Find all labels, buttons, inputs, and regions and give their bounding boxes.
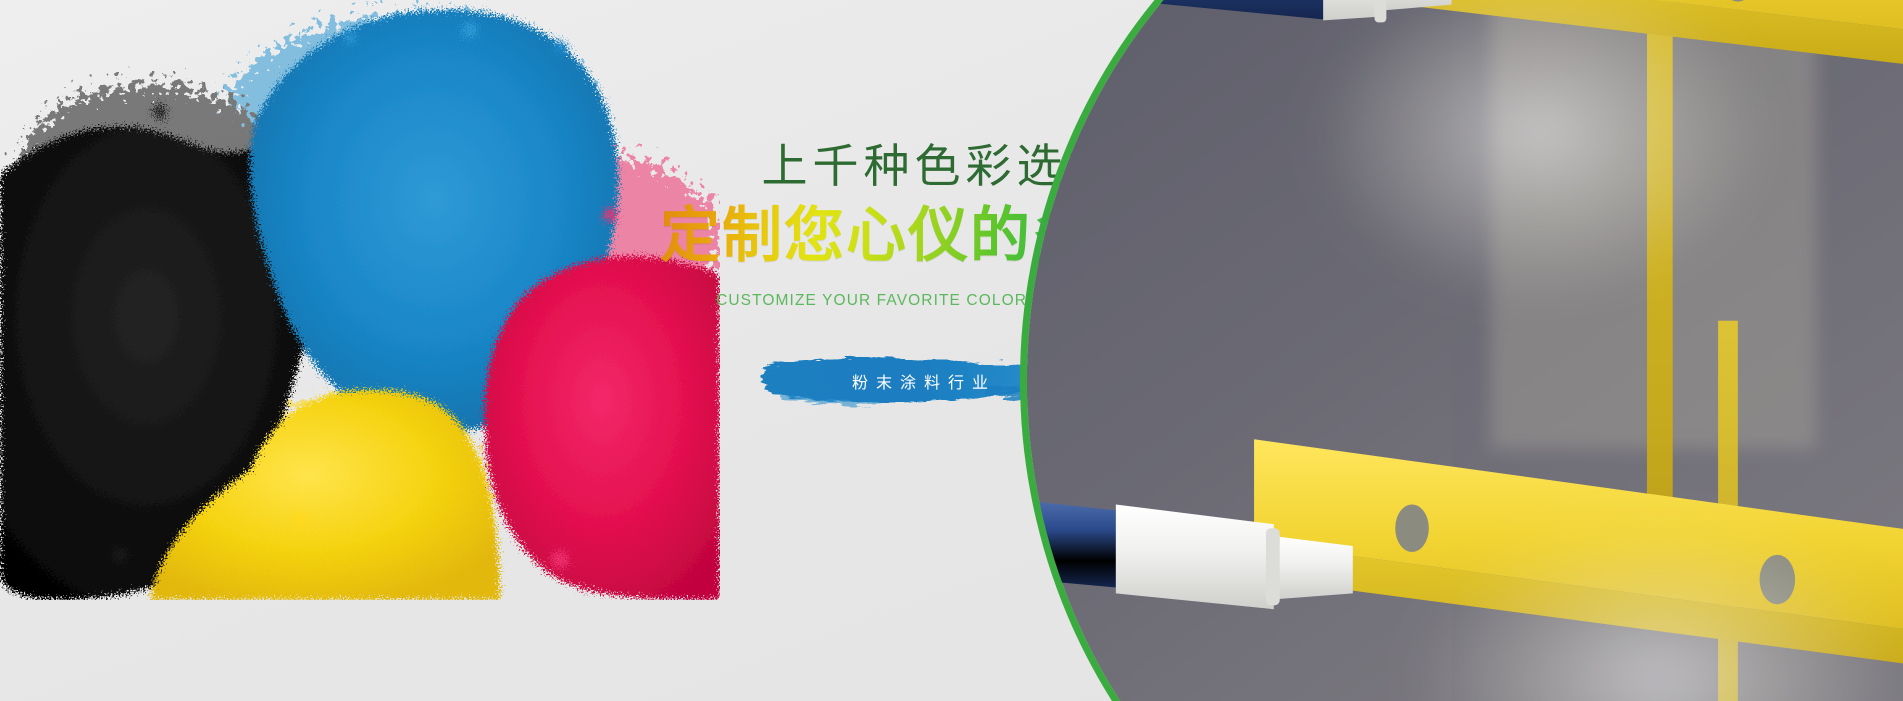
promo-banner: 上千种色彩选择 定制您心仪的多彩方案 CUSTOMIZE YOUR FAVORI… — [0, 0, 1903, 701]
powder-speck — [551, 551, 569, 569]
powder-speck — [153, 105, 167, 119]
powder-speck — [113, 548, 127, 562]
powder-speck — [553, 41, 567, 55]
powder-speck — [603, 208, 617, 222]
powder-speck — [462, 22, 478, 38]
rack-hole — [1395, 504, 1429, 551]
powder-speck — [344, 32, 356, 44]
powder-coating-photo: Encore — [1020, 0, 1903, 701]
powder-speck — [292, 512, 308, 528]
cmyk-powder-image — [0, 0, 720, 600]
